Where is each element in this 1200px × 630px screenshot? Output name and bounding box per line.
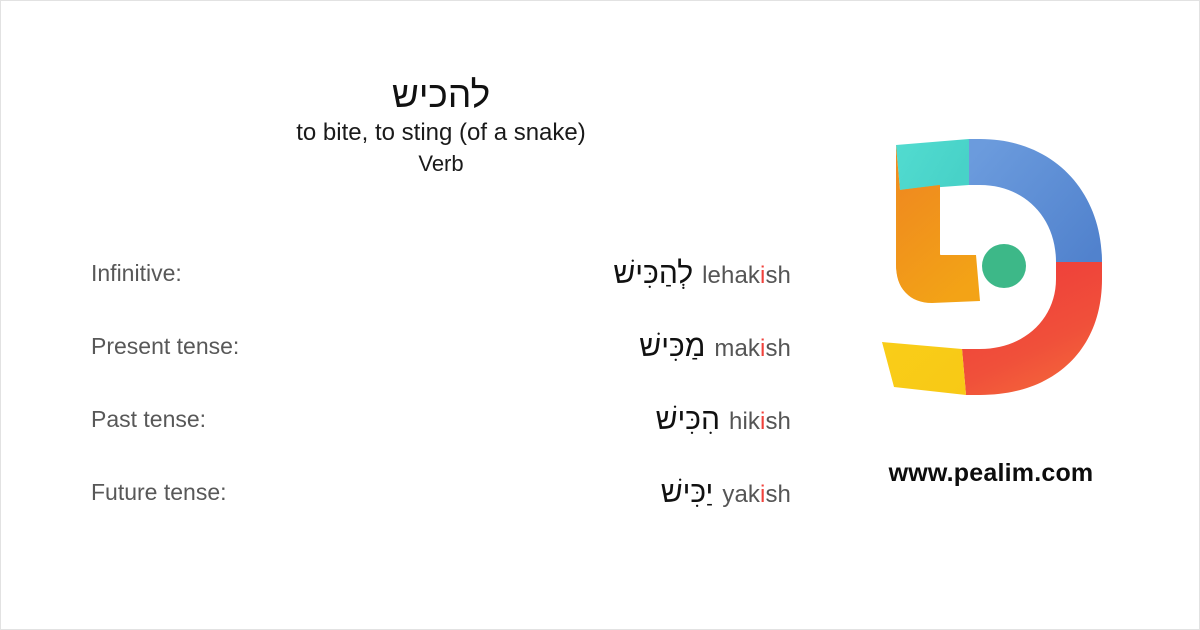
hebrew-form: מַכִּישׁ (639, 330, 705, 364)
transliteration: makish (714, 335, 791, 363)
logo-green-dot (982, 244, 1026, 288)
conjugation-row-future: Future tense: יַכִּישׁ yakish (1, 456, 791, 529)
row-label: Future tense: (91, 479, 227, 506)
transliteration: lehakish (702, 262, 791, 290)
translit-pre: mak (714, 335, 760, 362)
hebrew-form: לְהַכִּישׁ (613, 257, 693, 291)
translit-pre: lehak (702, 262, 760, 289)
conjugation-row-present: Present tense: מַכִּישׁ makish (1, 310, 791, 383)
transliteration: yakish (722, 481, 791, 509)
translit-pre: yak (722, 481, 760, 508)
pealim-logo-icon (870, 129, 1112, 405)
row-value: מַכִּישׁ makish (639, 330, 791, 364)
transliteration: hikish (729, 408, 791, 436)
conjugation-row-infinitive: Infinitive: לְהַכִּישׁ lehakish (1, 237, 791, 310)
translit-post: sh (765, 481, 791, 508)
page-title-translation: to bite, to sting (of a snake) (1, 117, 881, 149)
translit-post: sh (765, 408, 791, 435)
translit-post: sh (765, 262, 791, 289)
row-label: Infinitive: (91, 260, 182, 287)
translit-post: sh (765, 335, 791, 362)
site-url-label: www.pealim.com (861, 459, 1121, 488)
part-of-speech-label: Verb (1, 149, 881, 179)
page-title-hebrew: להכיש (1, 73, 881, 117)
row-value: הִכִּישׁ hikish (656, 403, 791, 437)
row-value: יַכִּישׁ yakish (661, 476, 791, 510)
row-value: לְהַכִּישׁ lehakish (613, 257, 791, 291)
hebrew-form: הִכִּישׁ (656, 403, 720, 437)
row-label: Present tense: (91, 333, 239, 360)
hebrew-form: יַכִּישׁ (661, 476, 714, 510)
row-label: Past tense: (91, 406, 206, 433)
conjugation-list: Infinitive: לְהַכִּישׁ lehakish Present … (1, 237, 791, 529)
translit-pre: hik (729, 408, 760, 435)
header: להכיש to bite, to sting (of a snake) Ver… (1, 73, 881, 179)
conjugation-row-past: Past tense: הִכִּישׁ hikish (1, 383, 791, 456)
pealim-verb-card: להכיש to bite, to sting (of a snake) Ver… (0, 0, 1200, 630)
